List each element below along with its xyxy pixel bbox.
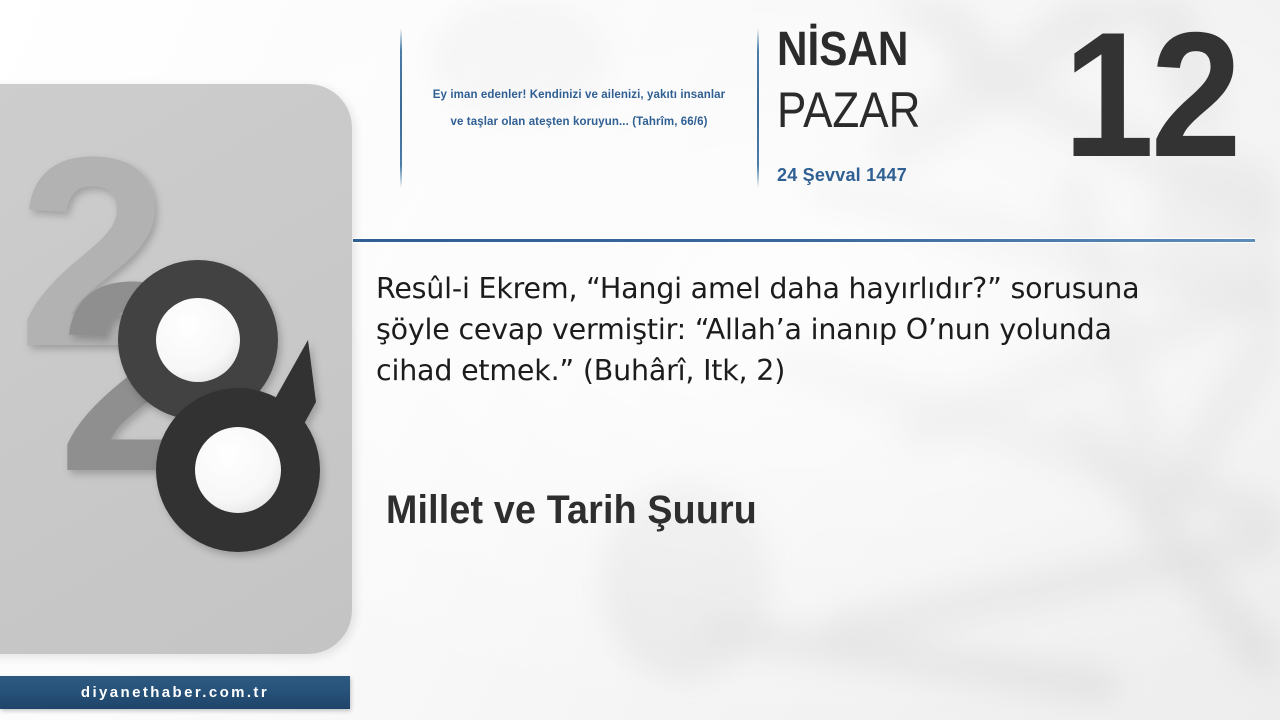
main-divider — [353, 239, 1255, 242]
quran-verse: Ey iman edenler! Kendinizi ve ailenizi, … — [404, 82, 754, 136]
day-number: 12 — [1063, 6, 1238, 184]
hadith-line-1: Resûl-i Ekrem, “Hangi amel daha hayırlıd… — [376, 268, 1196, 309]
hadith-line-2: şöyle cevap vermiştir: “Allah’a inanıp O… — [376, 309, 1196, 350]
topic-title: Millet ve Tarih Şuuru — [386, 487, 757, 533]
hadith-text: Resûl-i Ekrem, “Hangi amel daha hayırlıd… — [376, 268, 1196, 391]
hijri-date: 24 Şevval 1447 — [777, 165, 907, 186]
quran-verse-line-2: ve taşlar olan ateşten koruyun... (Tahrî… — [404, 109, 754, 136]
hadith-line-3: cihad etmek.” (Buhârî, Itk, 2) — [376, 350, 1196, 391]
date-day-name: PAZAR — [777, 86, 920, 134]
site-watermark-label: diyanethaber.com.tr — [81, 684, 269, 701]
year-logo-2026: 2 2 — [16, 140, 346, 570]
calendar-page: 2 2 Ey iman edenler! Kendinizi ve aileni… — [0, 0, 1280, 720]
site-watermark[interactable]: diyanethaber.com.tr — [0, 676, 350, 709]
date-month: NİSAN — [777, 26, 908, 74]
quran-verse-line-1: Ey iman edenler! Kendinizi ve ailenizi, … — [404, 82, 754, 109]
verse-divider-right — [757, 28, 759, 188]
verse-divider-left — [400, 28, 402, 188]
